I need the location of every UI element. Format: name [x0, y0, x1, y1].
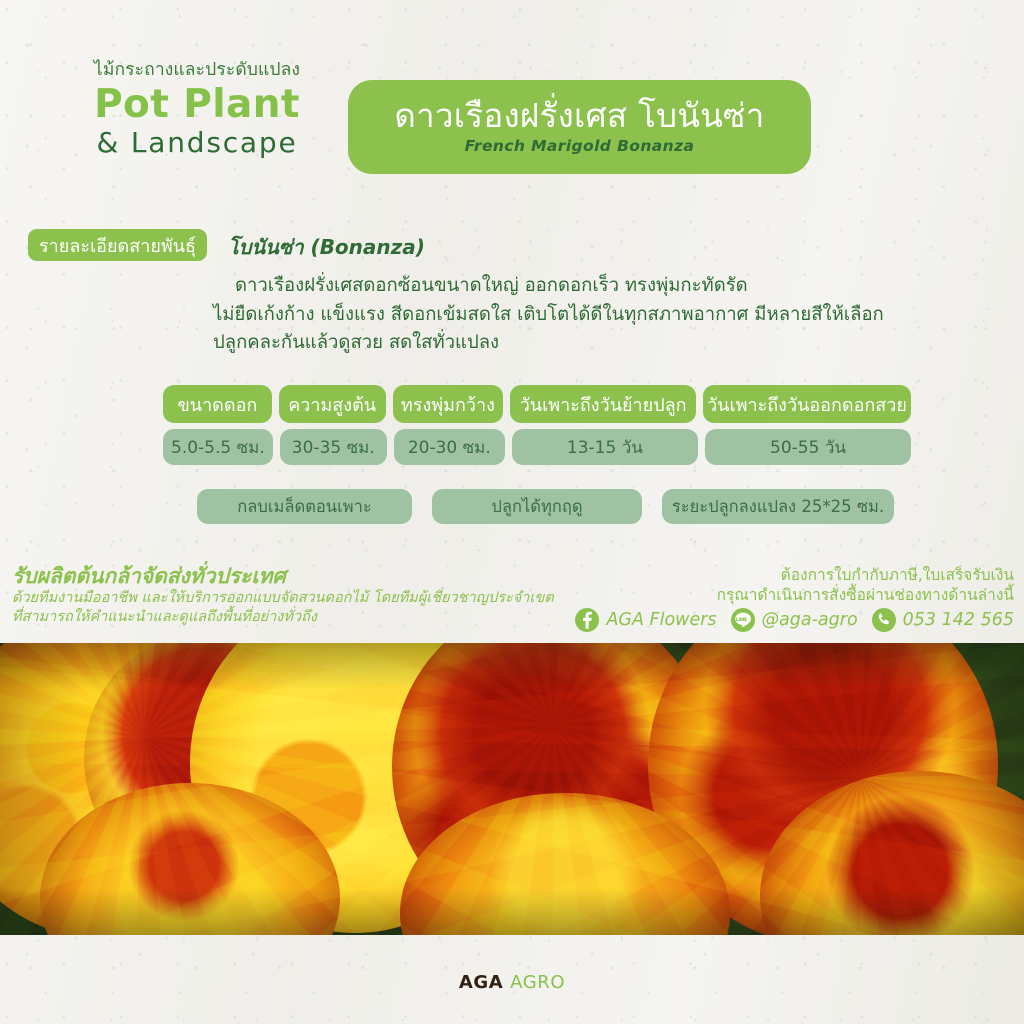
logo-part-agro: AGRO	[510, 972, 565, 993]
footer-service-sub-line-2: ที่สามารถให้คำแนะนำและดูแลถึงพื้นที่อย่า…	[12, 608, 554, 627]
footer-service-sub-line-1: ด้วยทีมงานมืออาชีพ และให้บริการออกแบบจัด…	[12, 589, 554, 608]
growing-notes-row: กลบเมล็ดตอนเพาะ ปลูกได้ทุกฤดู ระยะปลูกลง…	[197, 489, 894, 524]
variety-detail-badge: รายละเอียดสายพันธุ์	[28, 229, 207, 261]
variety-name: โบนันซ่า (Bonanza)	[228, 231, 425, 263]
description-line-3: ปลูกคละกันแล้วดูสวย สดใสทั่วแปลง	[213, 329, 1003, 358]
spec-value-plant-height: 30-35 ซม.	[280, 429, 387, 465]
company-logo: AGA AGRO	[0, 972, 1024, 993]
brand-title-pot-plant: Pot Plant	[62, 84, 332, 125]
specification-table: ขนาดดอก ความสูงต้น ทรงพุ่มกว้าง วันเพาะถ…	[163, 385, 911, 465]
footer-service-block: รับผลิตต้นกล้าจัดส่งทั่วประเทศ ด้วยทีมงา…	[12, 563, 554, 627]
description-paragraph: ดาวเรืองฝรั่งเศสดอกซ้อนขนาดใหญ่ ออกดอกเร…	[213, 272, 1003, 358]
poster-root: ไม้กระถางและประดับแปลง Pot Plant & Lands…	[0, 0, 1024, 1024]
logo-part-aga: AGA	[459, 972, 503, 993]
spec-value-flower-size: 5.0-5.5 ซม.	[163, 429, 273, 465]
phone-icon[interactable]	[872, 608, 896, 632]
brand-thai-label: ไม้กระถางและประดับแปลง	[62, 62, 332, 80]
spec-header-days-to-bloom: วันเพาะถึงวันออกดอกสวย	[703, 385, 911, 423]
spec-value-days-to-transplant: 13-15 วัน	[512, 429, 698, 465]
photo-vignette	[0, 643, 1024, 935]
brand-title-landscape: & Landscape	[62, 125, 332, 160]
contact-phone-number: 053 142 565	[903, 610, 1014, 630]
facebook-icon[interactable]	[575, 608, 599, 632]
note-all-season: ปลูกได้ทุกฤดู	[432, 489, 642, 524]
header-section: ไม้กระถางและประดับแปลง Pot Plant & Lands…	[0, 0, 1024, 200]
spec-header-flower-size: ขนาดดอก	[163, 385, 272, 423]
description-line-1: ดาวเรืองฝรั่งเศสดอกซ้อนขนาดใหญ่ ออกดอกเร…	[213, 272, 1003, 301]
description-line-2: ไม่ยืดเก้งก้าง แข็งแรง สีดอกเข้มสดใส เติ…	[213, 301, 1003, 330]
footer-invoice-line-1: ต้องการใบกำกับภาษี,ใบเสร็จรับเงิน	[717, 566, 1014, 586]
spec-header-bush-width: ทรงพุ่มกว้าง	[393, 385, 504, 423]
note-cover-seed: กลบเมล็ดตอนเพาะ	[197, 489, 412, 524]
variety-detail-badge-label: รายละเอียดสายพันธุ์	[39, 231, 196, 260]
spec-value-row: 5.0-5.5 ซม. 30-35 ซม. 20-30 ซม. 13-15 วั…	[163, 429, 911, 465]
marigold-photo	[0, 643, 1024, 935]
product-title-banner: ดาวเรืองฝรั่งเศส โบนันซ่า French Marigol…	[348, 80, 811, 174]
contact-facebook-label: AGA Flowers	[606, 610, 716, 630]
contact-facebook[interactable]: AGA Flowers	[575, 608, 716, 632]
product-title-english: French Marigold Bonanza	[465, 137, 695, 155]
spec-header-plant-height: ความสูงต้น	[279, 385, 386, 423]
contact-line-label: @aga-agro	[762, 610, 858, 630]
contact-line[interactable]: @aga-agro	[731, 608, 858, 632]
footer-invoice-line-2: กรุณาดำเนินการสั่งซื้อผ่านช่องทางด้านล่า…	[717, 586, 1014, 606]
spec-header-days-to-transplant: วันเพาะถึงวันย้ายปลูก	[510, 385, 696, 423]
spec-value-bush-width: 20-30 ซม.	[394, 429, 505, 465]
contact-row: AGA Flowers @aga-agro 053 142 565	[575, 608, 1014, 632]
product-title-thai: ดาวเรืองฝรั่งเศส โบนันซ่า	[394, 97, 764, 135]
note-planting-spacing: ระยะปลูกลงแปลง 25*25 ซม.	[662, 489, 894, 524]
spec-header-row: ขนาดดอก ความสูงต้น ทรงพุ่มกว้าง วันเพาะถ…	[163, 385, 911, 423]
footer-service-headline: รับผลิตต้นกล้าจัดส่งทั่วประเทศ	[12, 563, 554, 589]
spec-value-days-to-bloom: 50-55 วัน	[705, 429, 911, 465]
footer-invoice-block: ต้องการใบกำกับภาษี,ใบเสร็จรับเงิน กรุณาด…	[717, 566, 1014, 606]
line-icon[interactable]	[731, 608, 755, 632]
contact-phone[interactable]: 053 142 565	[872, 608, 1014, 632]
brand-block: ไม้กระถางและประดับแปลง Pot Plant & Lands…	[62, 62, 332, 160]
